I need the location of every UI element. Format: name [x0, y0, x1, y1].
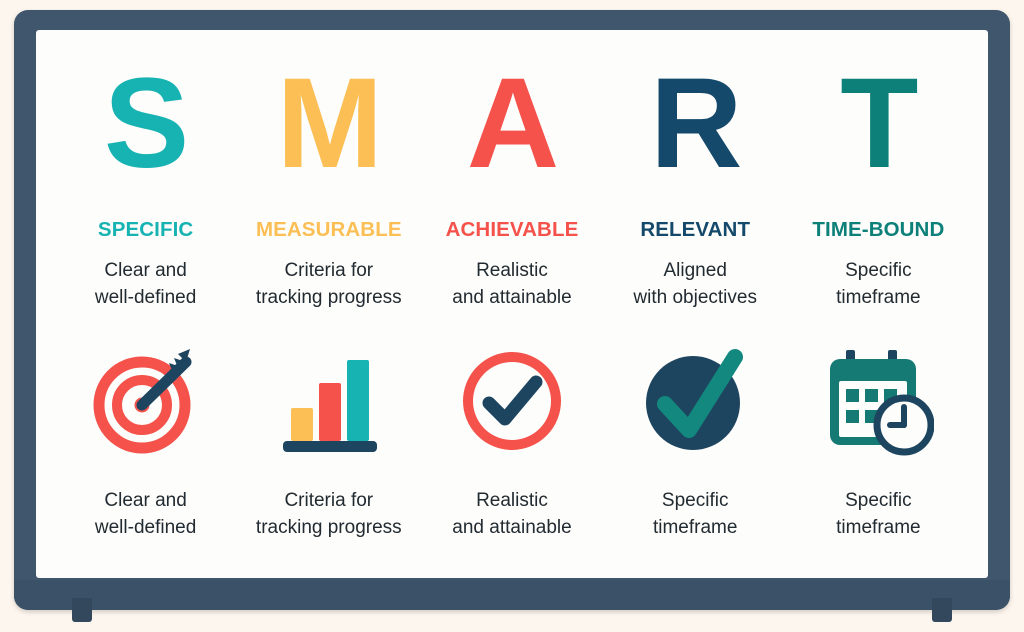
caption-specific-line2: well-defined [54, 515, 237, 542]
caption-measurable-line2: tracking progress [237, 515, 420, 542]
description-time-bound: Specific timeframe [787, 258, 970, 326]
keyword-time-bound: TIME-BOUND [787, 220, 970, 241]
description-relevant-line2: with objectives [604, 285, 787, 312]
whiteboard-bottom-rail [14, 580, 1010, 610]
smart-letter-t: T [787, 60, 970, 188]
keyword-measurable: MEASURABLE [237, 220, 420, 241]
smart-keywords-row: SPECIFIC MEASURABLE ACHIEVABLE RELEVANT … [54, 210, 970, 250]
description-time-bound-line1: Specific [787, 258, 970, 285]
whiteboard-leg-right [932, 598, 952, 622]
description-measurable-line1: Criteria for [237, 258, 420, 285]
calendar-clock-icon [816, 339, 940, 463]
caption-time-bound-line1: Specific [787, 488, 970, 515]
smart-infographic: S M A R T SPECIFIC MEASURABLE ACHIEVABLE… [36, 30, 988, 578]
caption-relevant: Specific timeframe [604, 488, 787, 542]
description-time-bound-line2: timeframe [787, 285, 970, 312]
whiteboard-leg-left [72, 598, 92, 622]
caption-achievable: Realistic and attainable [420, 488, 603, 542]
smart-letter-s: S [54, 60, 237, 188]
caption-relevant-line1: Specific [604, 488, 787, 515]
whiteboard-surface: S M A R T SPECIFIC MEASURABLE ACHIEVABLE… [36, 30, 988, 578]
check-circle-filled-icon [633, 339, 757, 463]
captions-row: Clear and well-defined Criteria for trac… [54, 476, 970, 542]
icons-row [54, 326, 970, 476]
caption-achievable-line2: and attainable [420, 515, 603, 542]
descriptions-row: Clear and well-defined Criteria for trac… [54, 250, 970, 326]
caption-specific-line1: Clear and [54, 488, 237, 515]
description-specific-line2: well-defined [54, 285, 237, 312]
whiteboard: S M A R T SPECIFIC MEASURABLE ACHIEVABLE… [14, 10, 1010, 610]
description-measurable: Criteria for tracking progress [237, 258, 420, 326]
caption-measurable: Criteria for tracking progress [237, 488, 420, 542]
keyword-achievable: ACHIEVABLE [420, 220, 603, 241]
keyword-specific: SPECIFIC [54, 220, 237, 241]
description-specific-line1: Clear and [54, 258, 237, 285]
description-specific: Clear and well-defined [54, 258, 237, 326]
description-relevant-line1: Aligned [604, 258, 787, 285]
caption-specific: Clear and well-defined [54, 488, 237, 542]
check-circle-outline-icon [450, 339, 574, 463]
description-achievable-line1: Realistic [420, 258, 603, 285]
smart-letters-row: S M A R T [54, 38, 970, 210]
description-relevant: Aligned with objectives [604, 258, 787, 326]
caption-relevant-line2: timeframe [604, 515, 787, 542]
bar-chart-icon [267, 339, 391, 463]
description-achievable-line2: and attainable [420, 285, 603, 312]
description-measurable-line2: tracking progress [237, 285, 420, 312]
smart-letter-r: R [604, 60, 787, 188]
smart-letter-m: M [237, 60, 420, 188]
smart-letter-a: A [420, 60, 603, 188]
target-arrow-icon [84, 339, 208, 463]
keyword-relevant: RELEVANT [604, 220, 787, 241]
description-achievable: Realistic and attainable [420, 258, 603, 326]
caption-measurable-line1: Criteria for [237, 488, 420, 515]
caption-achievable-line1: Realistic [420, 488, 603, 515]
caption-time-bound-line2: timeframe [787, 515, 970, 542]
caption-time-bound: Specific timeframe [787, 488, 970, 542]
